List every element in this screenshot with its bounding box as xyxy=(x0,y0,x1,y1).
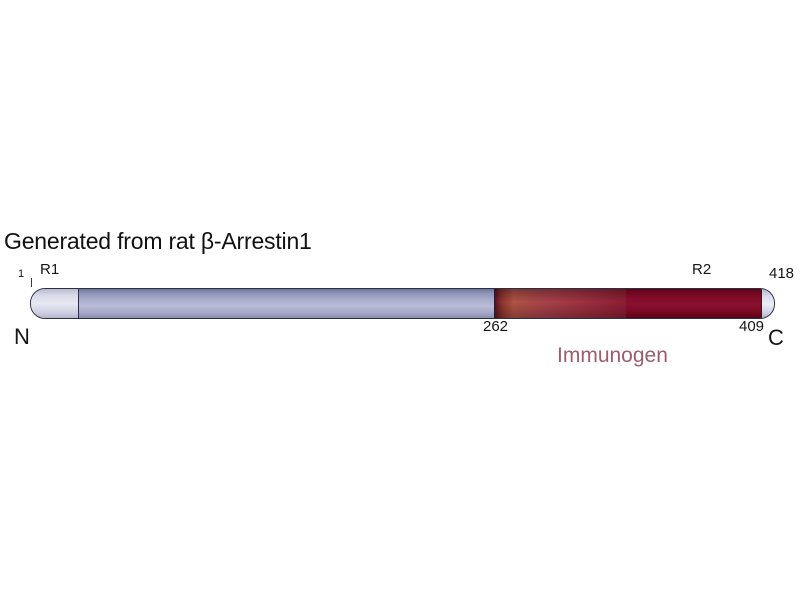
figure-title: Generated from rat β-Arrestin1 xyxy=(4,228,312,254)
start-residue-tick xyxy=(31,278,32,287)
segment-r2[interactable] xyxy=(626,289,761,318)
segment-n-terminal-body[interactable] xyxy=(79,289,495,318)
label-region-r2: R2 xyxy=(692,261,711,278)
protein-domain-figure: Generated from rat β-Arrestin1 1 R1 R2 4… xyxy=(0,0,800,600)
label-region-r1: R1 xyxy=(40,261,59,278)
segment-immunogen-proximal[interactable] xyxy=(495,289,626,318)
segment-r1[interactable] xyxy=(31,289,79,318)
protein-bar-track xyxy=(30,288,775,319)
label-c-terminus: C xyxy=(768,325,784,351)
segment-c-terminal-cap[interactable] xyxy=(761,289,775,318)
label-n-terminus: N xyxy=(14,324,30,350)
label-immunogen-end-residue: 409 xyxy=(739,318,764,335)
label-immunogen-start-residue: 262 xyxy=(483,318,508,335)
protein-bar xyxy=(30,288,775,319)
label-immunogen: Immunogen xyxy=(557,344,668,368)
label-start-residue: 1 xyxy=(18,268,24,280)
label-end-residue: 418 xyxy=(769,265,794,282)
